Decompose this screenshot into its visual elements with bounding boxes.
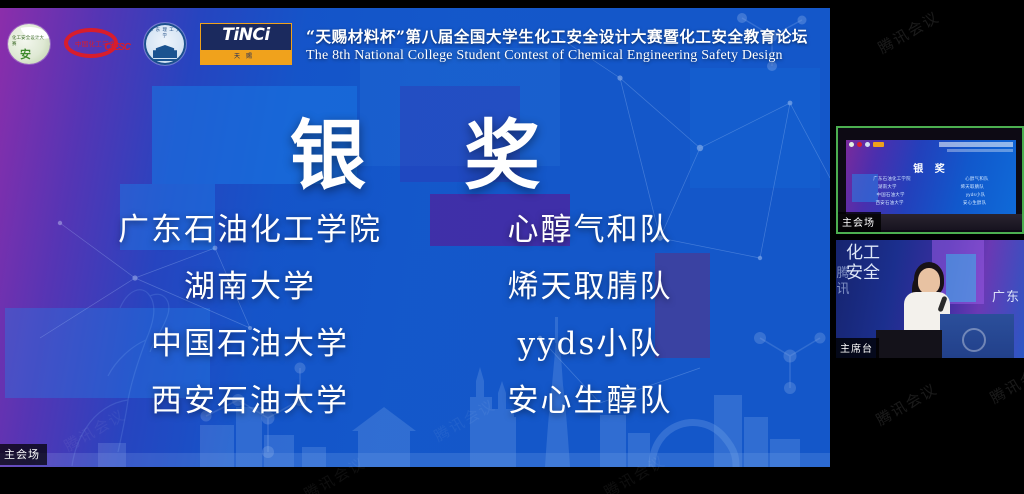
venue-led-screen: 银 奖 广东石油化工学院 心醇气和队 湖南大学 烯天取腈队 中国石油大学 yyd… xyxy=(846,140,1016,214)
winner-school: 中国石油大学 xyxy=(60,318,440,363)
mini-winner-row: 广东石油化工学院 心醇气和队 xyxy=(846,176,1016,182)
mini-winner-team: 烯天取腈队 xyxy=(961,184,984,190)
winner-row: 广东石油化工学院 心醇气和队 xyxy=(60,204,760,249)
winner-team: yyds小队 xyxy=(440,318,740,363)
ciesc-logo: 中国化工学会 CIESC xyxy=(64,24,130,64)
mini-logo-apple xyxy=(849,142,854,147)
mini-title-bar-en xyxy=(947,149,1013,152)
watermark: 腾讯会议 xyxy=(874,6,943,58)
tinci-logo: TiNCi 天赐 xyxy=(200,23,292,65)
contest-title-block: “天赐材料杯”第八届全国大学生化工安全设计大赛暨化工安全教育论坛 The 8th… xyxy=(306,25,808,64)
thumbnail-label: 主会场 xyxy=(838,212,881,232)
mini-winner-row: 中国石油大学 yyds小队 xyxy=(846,192,1016,198)
mini-logos xyxy=(849,142,884,147)
mini-winner-school: 西安石油大学 xyxy=(876,200,904,206)
podium-emblem xyxy=(962,328,986,352)
contest-title-cn: “天赐材料杯”第八届全国大学生化工安全设计大赛暨化工安全教育论坛 xyxy=(306,25,808,47)
university-seal-arc-text: 华 东 理 工 大 学 xyxy=(148,27,182,42)
contest-title-en: The 8th National College Student Contest… xyxy=(306,48,808,64)
slide-header: 化工安全设计大赛 安 中国化工学会 CIESC 华 东 理 工 大 学 TiNC… xyxy=(0,8,830,80)
winners-list: 广东石油化工学院 心醇气和队 湖南大学 烯天取腈队 中国石油大学 yyds小队 … xyxy=(60,204,760,420)
podium-backdrop-screen-cyan xyxy=(946,254,976,302)
participant-rail[interactable]: 银 奖 广东石油化工学院 心醇气和队 湖南大学 烯天取腈队 中国石油大学 yyd… xyxy=(836,0,1024,494)
winner-row: 中国石油大学 yyds小队 xyxy=(60,318,760,363)
thumbnail-label: 主席台 xyxy=(836,338,879,358)
mini-winner-school: 湖南大学 xyxy=(878,184,897,190)
mini-logo-seal xyxy=(865,142,870,147)
mini-winner-team: 安心生醇队 xyxy=(963,200,986,206)
sponsor-logos: 化工安全设计大赛 安 中国化工学会 CIESC 华 东 理 工 大 学 TiNC… xyxy=(8,23,292,65)
mini-logo-ciesc xyxy=(857,142,862,147)
meeting-window: 化工安全设计大赛 安 中国化工学会 CIESC 华 东 理 工 大 学 TiNC… xyxy=(0,0,1024,494)
mini-winner-school: 广东石油化工学院 xyxy=(873,176,911,182)
apple-logo-mark: 安 xyxy=(20,46,31,62)
shared-screen-stage[interactable]: 化工安全设计大赛 安 中国化工学会 CIESC 华 东 理 工 大 学 TiNC… xyxy=(0,8,830,467)
university-seal-logo: 华 东 理 工 大 学 xyxy=(144,23,186,65)
mini-award-title: 银 奖 xyxy=(846,160,1016,175)
winner-school: 西安石油大学 xyxy=(60,375,440,420)
winner-row: 西安石油大学 安心生醇队 xyxy=(60,375,760,420)
foreground-desk xyxy=(876,330,942,358)
watermark: 腾讯会议 xyxy=(872,378,941,430)
winner-school: 广东石油化工学院 xyxy=(60,204,440,249)
mini-winner-team: 心醇气和队 xyxy=(965,176,988,182)
seal-building-shape xyxy=(153,45,177,58)
ciesc-logo-text-en: CIESC xyxy=(104,42,130,53)
winner-team: 安心生醇队 xyxy=(440,375,740,420)
winner-team: 烯天取腈队 xyxy=(440,261,740,306)
speaker-head xyxy=(918,268,940,294)
rail-separator xyxy=(836,236,1024,238)
mini-logo-tinci xyxy=(873,142,884,147)
mini-winner-team: yyds小队 xyxy=(966,192,986,198)
watermark: 腾讯会议 xyxy=(986,356,1024,408)
mini-winner-row: 湖南大学 烯天取腈队 xyxy=(846,184,1016,190)
tinci-logo-text: TiNCi xyxy=(205,25,287,48)
stage-source-label: 主会场 xyxy=(0,444,47,465)
seal-base-shape xyxy=(150,59,180,61)
mini-winner-school: 中国石油大学 xyxy=(877,192,905,198)
mini-title-bar-cn xyxy=(939,142,1013,147)
apple-logo-text: 化工安全设计大赛 xyxy=(12,35,46,46)
winner-row: 湖南大学 烯天取腈队 xyxy=(60,261,760,306)
tinci-logo-subtext: 天赐 xyxy=(201,50,291,64)
apple-leaf-logo: 化工安全设计大赛 安 xyxy=(8,24,50,64)
podium-wall-text: 化工安全 xyxy=(846,244,880,283)
winner-team: 心醇气和队 xyxy=(440,204,740,249)
podium-wall-text-right: 广东 xyxy=(992,286,1020,305)
award-title: 银 奖 xyxy=(0,94,830,204)
mini-winner-row: 西安石油大学 安心生醇队 xyxy=(846,200,1016,206)
thumbnail-podium[interactable]: 腾讯 化工安全 广东 主席台 xyxy=(836,240,1024,358)
thumbnail-main-venue[interactable]: 银 奖 广东石油化工学院 心醇气和队 湖南大学 烯天取腈队 中国石油大学 yyd… xyxy=(836,126,1024,234)
winner-school: 湖南大学 xyxy=(60,261,440,306)
